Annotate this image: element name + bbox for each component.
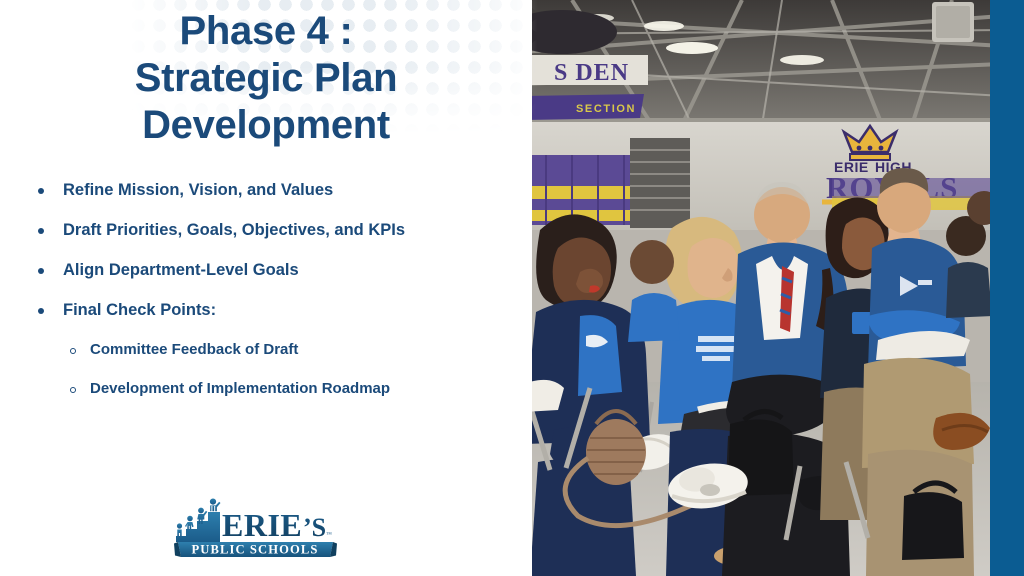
right-accent-bar [990,0,1024,576]
bullet-label: Draft Priorities, Goals, Objectives, and… [63,220,405,241]
sub-list-item: Development of Implementation Roadmap [30,379,530,399]
svg-text:’S: ’S [303,513,326,542]
bullet-label: Refine Mission, Vision, and Values [63,180,333,201]
svg-text:PUBLIC SCHOOLS: PUBLIC SCHOOLS [191,542,318,556]
hollow-bullet-dot-icon [70,387,76,393]
sub-bullet-label: Committee Feedback of Draft [90,340,298,360]
bullet-label: Final Check Points: [63,300,216,321]
sub-bullet-label: Development of Implementation Roadmap [90,379,390,399]
eries-public-schools-logo: ERIE ’S ™ PUBLIC SCHOOLS [170,496,340,560]
bullet-dot-icon [38,188,44,194]
sub-list-item: Committee Feedback of Draft [30,340,530,360]
bullet-list: Refine Mission, Vision, and Values Draft… [30,180,530,418]
bullet-label: Align Department-Level Goals [63,260,299,281]
svg-text:ERIE: ERIE [222,507,302,543]
svg-text:SECTION: SECTION [576,103,636,115]
logo-artwork-icon: ERIE ’S ™ PUBLIC SCHOOLS [170,496,340,560]
svg-text:S DEN: S DEN [554,60,629,86]
list-item: Draft Priorities, Goals, Objectives, and… [30,220,530,241]
bullet-dot-icon [38,268,44,274]
list-item: Refine Mission, Vision, and Values [30,180,530,201]
audience-photo: S DEN SECTION ERIE HIGH ROYALS [532,0,990,576]
page-title: Phase 4 : Strategic Plan Development [26,8,506,149]
list-item: Align Department-Level Goals [30,260,530,281]
hollow-bullet-dot-icon [70,348,76,354]
svg-text:™: ™ [326,532,332,538]
bullet-dot-icon [38,308,44,314]
left-content-pane: Phase 4 : Strategic Plan Development Ref… [0,0,532,576]
photo-artwork: S DEN SECTION ERIE HIGH ROYALS [532,0,990,576]
list-item: Final Check Points: [30,300,530,321]
bullet-dot-icon [38,228,44,234]
slide-root: Phase 4 : Strategic Plan Development Ref… [0,0,1024,576]
